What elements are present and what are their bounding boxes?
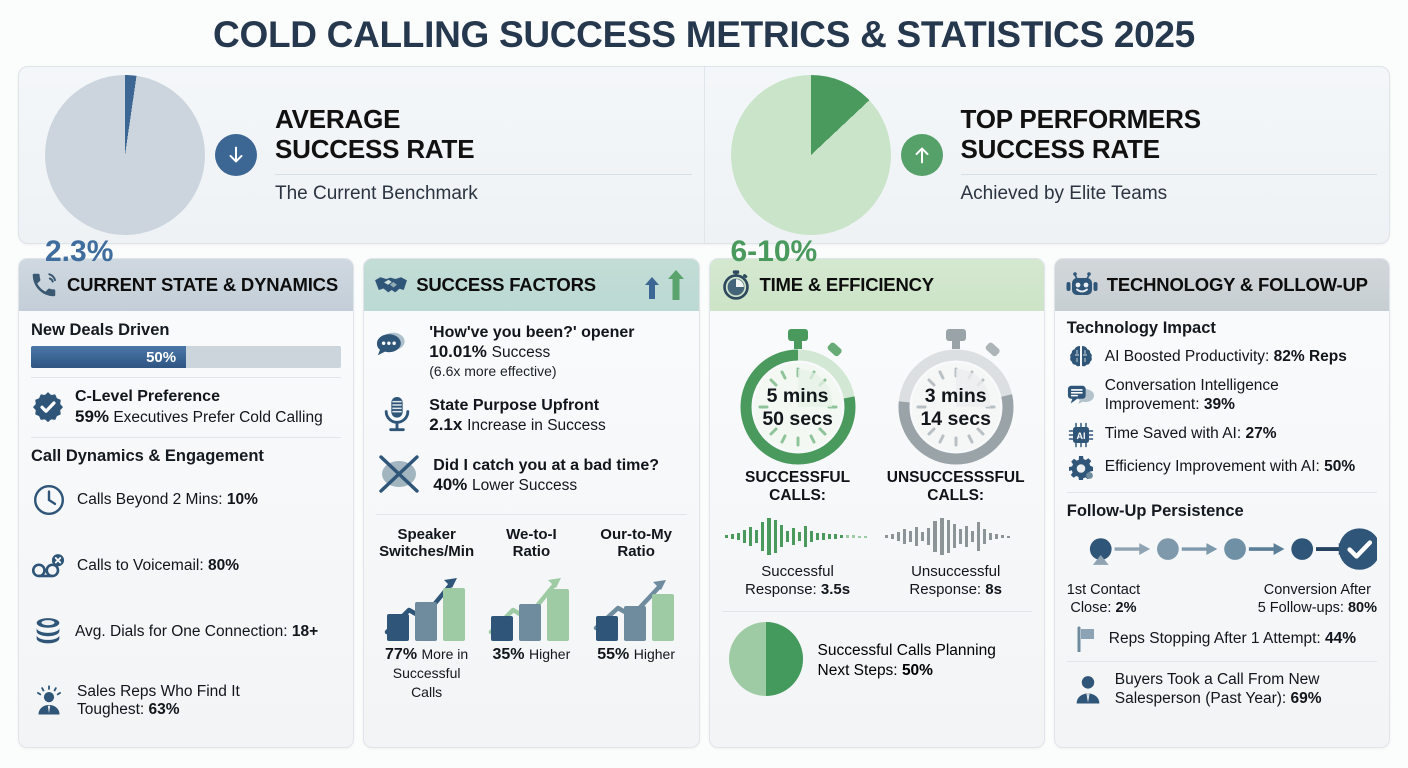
stopwatch-comparison: 5 mins 50 secs SUCCESSFUL CALLS: [722,325,1032,506]
followup-captions: 1st Contact Close: 2% Conversion After 5… [1067,581,1377,617]
item-label: Calls to Voicemail: [77,557,204,574]
factor-title: State Purpose Upfront [429,396,606,415]
arrow-up-green-icon [665,268,687,302]
followup-right-value: 80% [1348,600,1377,616]
card-title-current-state: CURRENT STATE & DYNAMICS [67,274,338,296]
phone-ringing-icon [29,270,59,300]
mini-chart-graphic [376,566,477,644]
factor-value: 2.1x [429,415,462,434]
waveform-line2: Response: [909,581,981,598]
svg-text:AI: AI [1076,431,1085,441]
stopwatch-label-successful: SUCCESSFUL CALLS: [722,469,874,506]
header-trend-arrows [642,268,689,302]
tech-item-text: Efficiency Improvement with AI: 50% [1105,458,1355,477]
clevel-preference-text: C-Level Preference 59% Executives Prefer… [75,387,323,428]
factor-text: Did I catch you at a bad time? 40% Lower… [433,456,659,496]
kpi-subtitle-top: Achieved by Elite Teams [961,183,1378,205]
technology-impact-title: Technology Impact [1067,319,1377,338]
factor-value: 40% [433,475,467,494]
divider [1067,492,1377,493]
tech-label: Efficiency Improvement with AI: [1105,458,1320,475]
kpi-headline-average-1: AVERAGE [275,105,692,135]
list-item-text: Avg. Dials for One Connection: 18+ [75,623,318,642]
list-item-text: Calls to Voicemail: 80% [77,557,239,576]
factor-suffix: Increase in Success [467,417,606,434]
flag-icon [1075,626,1099,652]
item-label: Calls Beyond 2 Mins: [77,491,223,508]
waveform-unsuccessful: Unsuccessful Response: 8s [880,516,1032,599]
tech-label: Conversation Intelligence Improvement: [1105,377,1279,413]
progress-bar-fill: 50% [31,346,186,368]
stopwatch-label-unsuccessful: UNSUCCESSSFUL CALLS: [880,469,1032,506]
factor-value: 10.01% [429,342,487,361]
followup-right-line1: Conversion After [1264,582,1371,598]
tech-item-text: Time Saved with AI: 27% [1105,425,1277,444]
divider [961,174,1378,175]
progress-value: 50% [146,349,186,366]
tech-item: AI Boosted Productivity: 82% Reps [1067,344,1377,370]
planning-next-steps-block: Successful Calls Planning Next Steps: 50… [722,621,1032,702]
factor-item: Did I catch you at a bad time? 40% Lower… [376,453,686,500]
crossed-out-icon [376,453,422,500]
stressed-rep-icon [31,683,67,719]
item-value: 18+ [292,623,318,640]
ai-chip-icon: AI [1067,422,1095,448]
waveform-value: 3.5s [821,581,850,598]
microphone-icon [376,394,418,439]
followup-left-line2: Close: [1070,600,1111,616]
waveform-caption-unsuccessful: Unsuccessful Response: 8s [880,563,1032,599]
kpi-banner: 2.3% AVERAGE SUCCESS RATE The Current Be… [18,66,1390,244]
gear-icon [1067,455,1095,481]
divider [1067,661,1377,662]
mini-chart-heading: Our-to-My Ratio [586,526,687,561]
mini-chart-value: 35% [493,646,525,663]
waveform-value: 8s [985,581,1002,598]
stopwatch-time-line1: 3 mins [890,385,1022,408]
followup-steps-icon [1067,521,1377,579]
mini-chart: We-to-I Ratio 35% Higher [481,526,582,703]
card-current-state: CURRENT STATE & DYNAMICS New Deals Drive… [18,258,354,748]
tech-item-text: AI Boosted Productivity: 82% Reps [1105,348,1347,367]
mini-chart-value: 77% [385,646,417,663]
mini-chart-graphic [481,566,582,644]
mini-chart-caption: Higher [634,646,675,662]
buyer-value: 69% [1291,690,1322,707]
waveform-successful: Successful Response: 3.5s [722,516,874,599]
list-item: Avg. Dials for One Connection: 18+ [31,615,341,649]
pie-text-line1: Successful Calls Planning [818,642,996,659]
clock-icon [31,482,67,518]
waveform-line2: Response: [745,581,817,598]
page-title: COLD CALLING SUCCESS METRICS & STATISTIC… [18,0,1390,66]
item-label: Avg. Dials for One Connection: [75,623,288,640]
list-item-text: Sales Reps Who Find It Toughest: 63% [77,683,240,721]
flag-value: 44% [1325,630,1356,647]
mini-chart: Speaker Switches/Min 77% More in [376,526,477,703]
kpi-headline-top-2: SUCCESS RATE [961,135,1378,165]
response-waveforms: Successful Response: 3.5s [722,516,1032,599]
divider [376,514,686,515]
donut-chart-average: 2.3% [45,75,205,235]
list-item: Sales Reps Who Find It Toughest: 63% [31,683,341,721]
kpi-headline-average-2: SUCCESS RATE [275,135,692,165]
verified-check-icon [31,390,65,424]
factor-text: State Purpose Upfront 2.1x Increase in S… [429,396,606,436]
waveform-caption-successful: Successful Response: 3.5s [722,563,874,599]
factor-note: (6.6x more effective) [429,363,634,380]
tech-item: Efficiency Improvement with AI: 50% [1067,455,1377,481]
mini-chart-value: 55% [597,646,629,663]
waveform-green-icon [723,516,873,556]
stopwatch-icon [720,269,752,301]
pie-value: 50% [902,662,933,679]
stacked-dials-icon [31,615,65,649]
donut-chart-top-performers: 6-10% [731,75,891,235]
tech-value: 50% [1324,458,1355,475]
speech-bubbles-icon [376,331,418,372]
robot-icon [1065,269,1099,301]
divider [275,174,692,175]
arrow-up-blue-icon [642,274,662,302]
mini-chart-heading: Speaker Switches/Min [376,526,477,561]
factor-suffix: Success [492,344,551,361]
tech-item-text: Conversation Intelligence Improvement: 3… [1105,377,1279,415]
item-value: 63% [149,701,180,718]
tech-item: AI Time Saved with AI: [1067,422,1377,448]
list-item: Calls to Voicemail: 80% [31,552,341,582]
divider [722,611,1032,612]
handshake-icon [374,270,408,300]
tech-value: 27% [1245,425,1276,442]
factor-item: State Purpose Upfront 2.1x Increase in S… [376,394,686,439]
voicemail-x-icon [31,552,67,582]
waveform-line1: Unsuccessful [911,563,1000,580]
kpi-headline-top-1: TOP PERFORMERS [961,105,1378,135]
stopwatch-time-line2: 14 secs [890,408,1022,431]
card-header-technology-followup: TECHNOLOGY & FOLLOW-UP [1055,259,1389,311]
donut-value-average: 2.3% [45,235,113,268]
kpi-average-success-rate: 2.3% AVERAGE SUCCESS RATE The Current Be… [19,67,704,243]
item-value: 80% [208,557,239,574]
clevel-desc: Executives Prefer Cold Calling [113,409,322,426]
progress-bar-track: 50% [31,346,341,368]
buyer-item-text: Buyers Took a Call From New Salesperson … [1115,671,1322,709]
factor-text: 'How've you been?' opener 10.01% Success… [429,323,634,380]
followup-left-value: 2% [1116,600,1137,616]
arrow-up-icon [901,134,943,176]
flag-label: Reps Stopping After 1 Attempt: [1109,630,1321,647]
donut-value-top-performers: 6-10% [731,235,818,268]
list-item: Calls Beyond 2 Mins: 10% [31,482,341,518]
infographic-page: COLD CALLING SUCCESS METRICS & STATISTIC… [0,0,1408,768]
list-item-text: Calls Beyond 2 Mins: 10% [77,491,258,510]
card-title-time-efficiency: TIME & EFFICIENCY [760,274,934,296]
tech-value: 82% Reps [1274,348,1347,365]
divider [31,377,341,378]
tech-label: Time Saved with AI: [1105,425,1241,442]
stopwatch-time-line2: 50 secs [732,408,864,431]
factor-title: Did I catch you at a bad time? [433,456,659,475]
flag-item: Reps Stopping After 1 Attempt: 44% [1067,626,1377,652]
arrow-down-icon [215,134,257,176]
card-header-success-factors: SUCCESS FACTORS [364,259,698,311]
waveform-line1: Successful [761,563,834,580]
call-dynamics-list: Calls Beyond 2 Mins: 10% [31,466,341,737]
conversation-icon [1067,383,1095,409]
half-pie-icon [728,621,804,702]
mini-chart-graphic [586,566,687,644]
planning-next-steps-text: Successful Calls Planning Next Steps: 50… [818,641,996,681]
factor-item: 'How've you been?' opener 10.01% Success… [376,323,686,380]
stopwatch-time-line1: 5 mins [732,385,864,408]
clevel-title: C-Level Preference [75,388,220,405]
card-title-technology-followup: TECHNOLOGY & FOLLOW-UP [1107,274,1368,296]
mini-chart: Our-to-My Ratio 55% Higher [586,526,687,703]
call-dynamics-title: Call Dynamics & Engagement [31,447,341,466]
followup-persistence-title: Follow-Up Persistence [1067,502,1377,521]
kpi-subtitle-average: The Current Benchmark [275,183,692,205]
tech-item: Conversation Intelligence Improvement: 3… [1067,377,1377,415]
flag-item-text: Reps Stopping After 1 Attempt: 44% [1109,630,1356,649]
card-title-success-factors: SUCCESS FACTORS [416,274,596,296]
businessperson-icon [1071,673,1105,707]
followup-right-line2: 5 Follow-ups: [1258,600,1344,616]
card-technology-followup: TECHNOLOGY & FOLLOW-UP Technology Impact [1054,258,1390,748]
pie-text-line2: Next Steps: [818,662,898,679]
progress-block: New Deals Driven 50% [31,321,341,368]
buyer-label: Buyers Took a Call From New Salesperson … [1115,671,1320,707]
tech-label: AI Boosted Productivity: [1105,348,1270,365]
divider [31,437,341,438]
brain-ai-icon [1067,344,1095,370]
mini-chart-caption: Higher [529,646,570,662]
waveform-grey-icon [881,516,1031,556]
followup-left-caption: 1st Contact Close: 2% [1067,581,1140,617]
followup-left-line1: 1st Contact [1067,582,1140,598]
clevel-value: 59% [75,407,109,426]
factor-title: 'How've you been?' opener [429,323,634,342]
stopwatch-successful: 5 mins 50 secs SUCCESSFUL CALLS: [722,325,874,506]
card-time-efficiency: TIME & EFFICIENCY [709,258,1045,748]
item-value: 10% [227,491,258,508]
clevel-preference-item: C-Level Preference 59% Executives Prefer… [31,387,341,428]
mini-bar-charts: Speaker Switches/Min 77% More in [376,526,686,703]
factor-suffix: Lower Success [472,477,577,494]
mini-chart-heading: We-to-I Ratio [481,526,582,561]
metric-columns: CURRENT STATE & DYNAMICS New Deals Drive… [18,258,1390,748]
followup-right-caption: Conversion After 5 Follow-ups: 80% [1258,581,1377,617]
tech-value: 39% [1204,396,1235,413]
stopwatch-unsuccessful: 3 mins 14 secs UNSUCCESSSFUL CALLS: [880,325,1032,506]
progress-label: New Deals Driven [31,321,341,340]
buyer-item: Buyers Took a Call From New Salesperson … [1067,671,1377,709]
kpi-top-performers-success-rate: 6-10% TOP PERFORMERS SUCCESS RATE Achiev… [704,67,1390,243]
card-success-factors: SUCCESS FACTORS [363,258,699,748]
